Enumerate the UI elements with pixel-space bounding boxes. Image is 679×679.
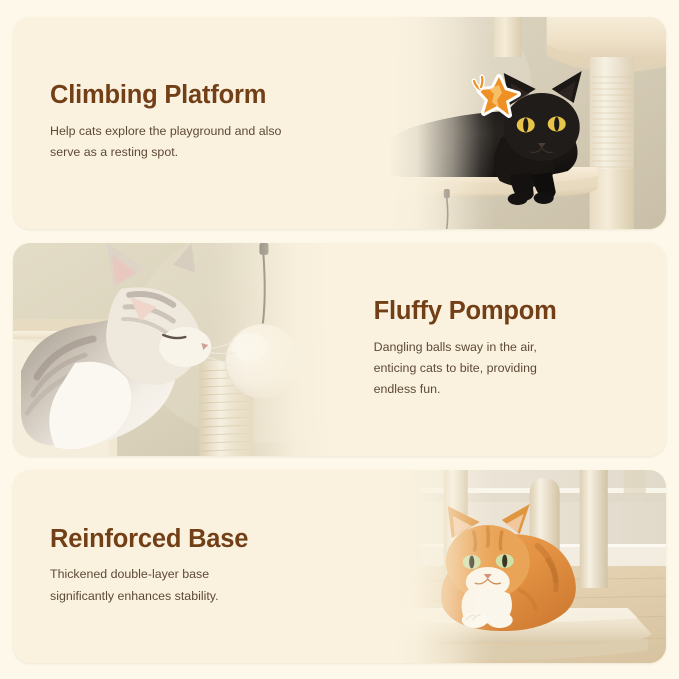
- description-line: endless fun.: [374, 379, 624, 400]
- description-line: Thickened double-layer base: [50, 564, 300, 585]
- feature-panel-climbing-platform: Climbing Platform Help cats explore the …: [13, 17, 666, 229]
- panel-description: Help cats explore the playground and als…: [50, 121, 300, 164]
- panel-heading: Reinforced Base: [50, 526, 339, 554]
- panel-text-block: Fluffy Pompom Dangling balls sway in the…: [366, 243, 666, 456]
- description-line: Help cats explore the playground and als…: [50, 121, 300, 142]
- panel-photo-orange-cat-on-base: [353, 470, 666, 663]
- panel-heading: Fluffy Pompom: [374, 298, 646, 326]
- panel-description: Thickened double-layer base significantl…: [50, 564, 300, 607]
- description-line: significantly enhances stability.: [50, 586, 300, 607]
- panel-description: Dangling balls sway in the air, enticing…: [374, 337, 624, 401]
- panel-text-block: Climbing Platform Help cats explore the …: [13, 17, 353, 229]
- panel-text-block: Reinforced Base Thickened double-layer b…: [13, 470, 353, 663]
- feature-panel-reinforced-base: Reinforced Base Thickened double-layer b…: [13, 470, 666, 663]
- panel-photo-cat-with-pompom: [13, 243, 366, 456]
- feature-panel-fluffy-pompom: Fluffy Pompom Dangling balls sway in the…: [13, 243, 666, 456]
- panel-heading: Climbing Platform: [50, 82, 339, 110]
- feature-panels-page: Climbing Platform Help cats explore the …: [0, 0, 679, 679]
- panel-photo-black-cat-on-platform: [353, 17, 666, 229]
- description-line: enticing cats to bite, providing: [374, 358, 624, 379]
- description-line: Dangling balls sway in the air,: [374, 337, 624, 358]
- description-line: serve as a resting spot.: [50, 142, 300, 163]
